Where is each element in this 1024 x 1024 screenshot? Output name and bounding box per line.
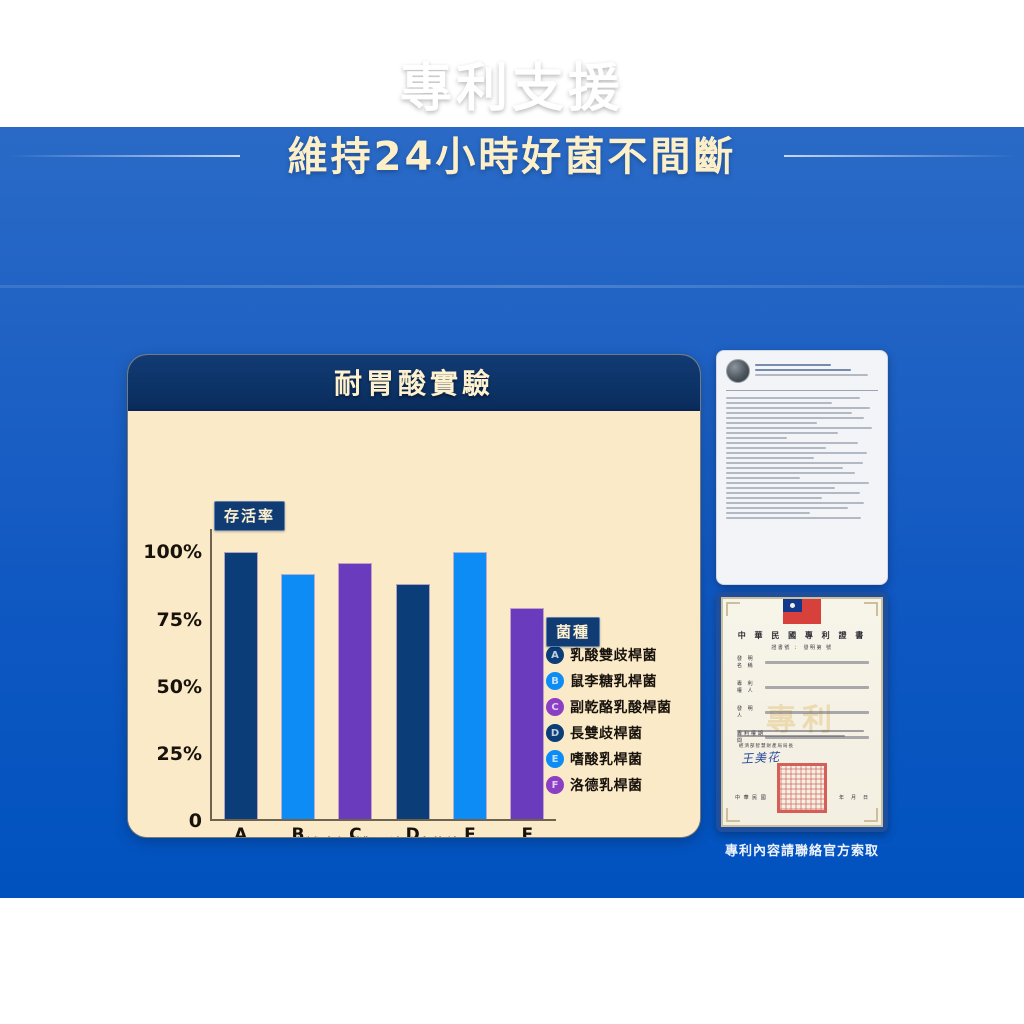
subtitle-rule-right [784,155,1016,157]
chart-card-body: 存活率 025%50%75%100% ABCDEF 本試驗在模擬胃溶液中的結果 … [128,411,700,838]
legend-item-A: A乳酸雙歧桿菌 [546,645,686,665]
patent-header-text-lines [755,359,878,379]
legend-marker-B: B [546,672,564,690]
y-axis-tick: 0 [189,810,202,832]
bar-slot [269,539,326,819]
bar-E [453,552,487,819]
certificate-field-label: 發 明 名 稱 [737,655,765,669]
certificate-field-value [765,686,869,689]
roc-flag-icon [783,599,821,624]
legend-label-D: 長雙歧桿菌 [570,723,643,743]
certificate-sheet: 中 華 民 國 專 利 證 書 證書號 ： 發明第 號 專利 發 明 名 稱專 … [721,597,883,827]
banner-highlight-line [0,285,1024,288]
legend-label-E: 嗜酸乳桿菌 [570,749,643,769]
legend-item-B: B鼠李糖乳桿菌 [546,671,686,691]
certificate-paragraph-lines [737,727,869,740]
slide-canvas: 專利支援 維持24小時好菌不間斷 耐胃酸實驗 存活率 025%50%75%100… [0,0,1024,1024]
y-axis-tick: 75% [157,609,202,631]
certificate-date-suffix: 年 月 日 [839,794,869,801]
certificate-corner-ornament [864,602,878,616]
bar-slot [441,539,498,819]
subtitle-rule-left [8,155,240,157]
patent-certificate-document[interactable]: 中 華 民 國 專 利 證 書 證書號 ： 發明第 號 專利 發 明 名 稱專 … [716,592,888,832]
bar-slot [327,539,384,819]
legend-label-A: 乳酸雙歧桿菌 [570,645,657,665]
y-axis-tick: 50% [157,676,202,698]
legend-item-D: D長雙歧桿菌 [546,723,686,743]
bar-slot [212,539,269,819]
y-axis-tick: 25% [157,743,202,765]
bar-A [224,552,258,819]
certificate-red-seal [777,763,827,813]
patent-body-text-lines [726,397,878,519]
legend-marker-A: A [546,646,564,664]
chart-card-header: 耐胃酸實驗 [128,355,700,411]
legend-label-B: 鼠李糖乳桿菌 [570,671,657,691]
certificate-field-list: 發 明 名 稱專 利 權 人發 明 人專利權期間 [737,655,869,755]
page-subtitle: 維持24小時好菌不間斷 [270,124,755,182]
certificate-signature: 王美花 [741,748,781,767]
certificate-field-value [765,711,869,714]
chart-card-title: 耐胃酸實驗 [334,362,494,402]
y-axis-tick-labels: 025%50%75%100% [134,539,202,821]
bar-chart-plot: 025%50%75%100% ABCDEF [210,539,550,821]
legend-marker-C: C [546,698,564,716]
page-title: 專利支援 [0,60,1024,118]
certificate-corner-ornament [726,808,740,822]
bar-B [281,574,315,819]
chart-card: 耐胃酸實驗 存活率 025%50%75%100% ABCDEF 本試驗在模擬胃溶… [127,354,701,838]
bar-F [510,608,544,819]
y-axis-badge: 存活率 [214,501,285,531]
legend-item-E: E嗜酸乳桿菌 [546,749,686,769]
certificate-field: 專 利 權 人 [737,680,869,694]
certificate-corner-ornament [864,808,878,822]
y-axis-tick: 100% [143,541,202,563]
patent-divider [726,390,878,391]
legend-item-list: A乳酸雙歧桿菌B鼠李糖乳桿菌C副乾酪乳酸桿菌D長雙歧桿菌E嗜酸乳桿菌F洛德乳桿菌 [546,645,686,795]
patent-publication-document[interactable] [716,350,888,585]
certificate-field-value [765,661,869,664]
subtitle-row: 維持24小時好菌不間斷 [0,124,1024,182]
legend-label-C: 副乾酪乳酸桿菌 [570,697,672,717]
heading-block: 專利支援 維持24小時好菌不間斷 [0,60,1024,182]
chart-legend: 菌種 A乳酸雙歧桿菌B鼠李糖乳桿菌C副乾酪乳酸桿菌D長雙歧桿菌E嗜酸乳桿菌F洛德… [546,617,686,801]
x-axis-line [210,819,556,821]
certificate-number: 證書號 ： 發明第 號 [723,644,881,651]
certificate-field: 發 明 名 稱 [737,655,869,669]
certificate-title: 中 華 民 國 專 利 證 書 [723,630,881,641]
certificate-field-label: 專 利 權 人 [737,680,765,694]
legend-item-C: C副乾酪乳酸桿菌 [546,697,686,717]
patent-document-header [726,359,878,383]
legend-marker-F: F [546,776,564,794]
certificate-field: 發 明 人 [737,705,869,719]
bar-C [338,563,372,819]
bar-slot [384,539,441,819]
certificate-date-prefix: 中 華 民 國 [735,794,767,801]
chart-caption: 本試驗在模擬胃溶液中的結果 [210,833,556,838]
legend-badge: 菌種 [546,617,600,647]
bar-D [396,584,430,819]
legend-item-F: F洛德乳桿菌 [546,775,686,795]
certificate-corner-ornament [726,602,740,616]
legend-marker-D: D [546,724,564,742]
documents-caption: 專利內容請聯絡官方索取 [700,840,904,859]
globe-emblem-icon [726,359,750,383]
flag-sun [790,603,795,608]
bar-series [212,539,556,819]
legend-marker-E: E [546,750,564,768]
certificate-field-label: 發 明 人 [737,705,765,719]
legend-label-F: 洛德乳桿菌 [570,775,643,795]
